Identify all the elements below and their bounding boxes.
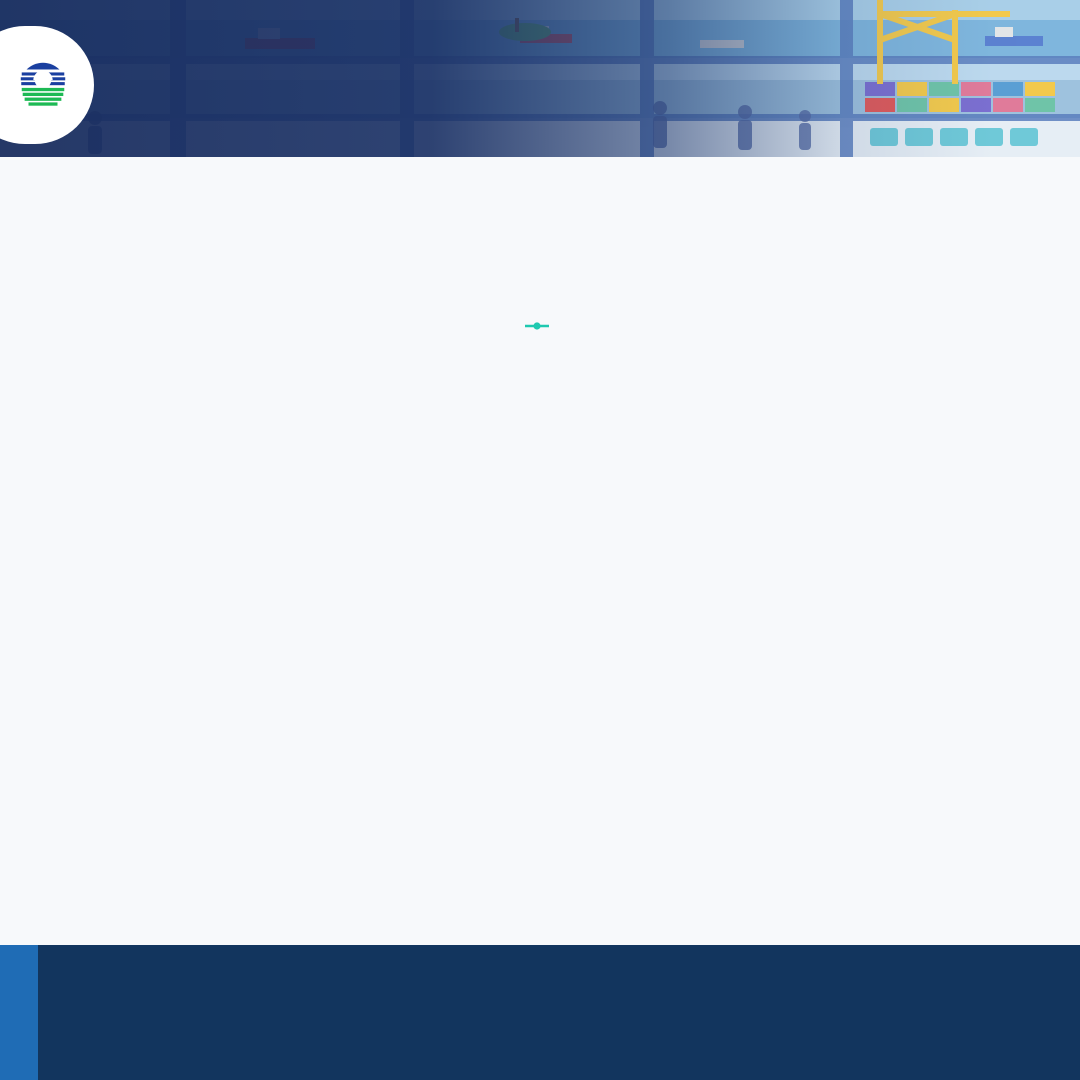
header-overlay xyxy=(0,0,1080,157)
daily-forecast-panels xyxy=(0,331,1080,339)
page-header xyxy=(0,0,1080,157)
bmkg-logo-mark xyxy=(14,56,72,114)
sst-chart xyxy=(26,201,1054,319)
chart-legend-marker xyxy=(524,321,550,331)
legend-side-title xyxy=(0,945,38,1080)
legend-strip xyxy=(0,945,1080,1080)
chart-legend xyxy=(0,321,1080,331)
